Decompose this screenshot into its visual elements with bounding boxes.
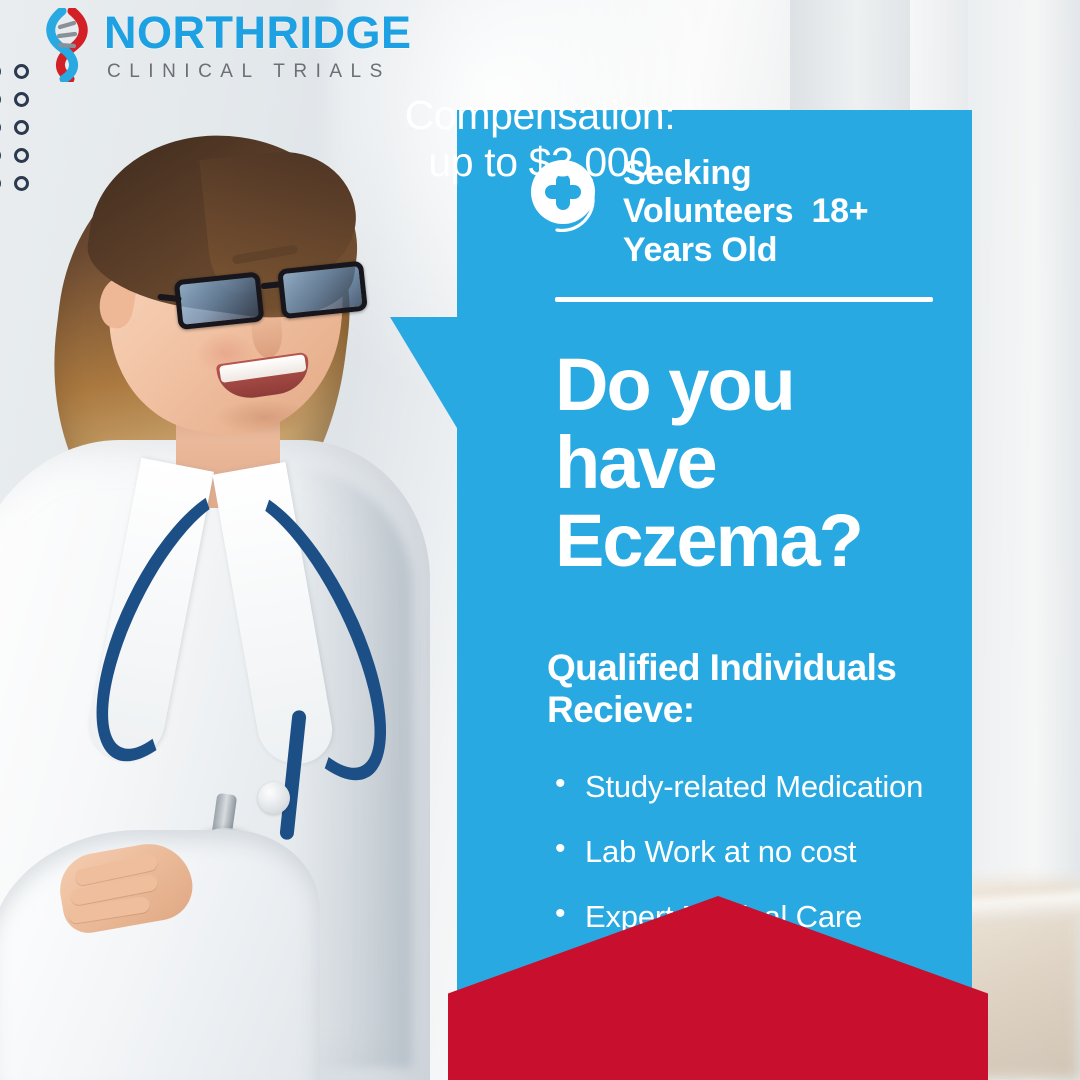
seeking-age: 18+	[812, 192, 869, 230]
compensation-amount: up to $3,000	[0, 139, 1080, 186]
doctor-photo	[0, 70, 470, 1080]
panel-pointer-tail	[390, 317, 460, 433]
benefits-subheading: Qualified Individuals Recieve:	[547, 647, 937, 731]
sunglasses-lens-left	[174, 271, 265, 330]
chin-shadow	[216, 400, 312, 434]
logo-tagline: CLINICAL TRIALS	[104, 62, 412, 81]
compensation-text: Compensation: up to $3,000	[0, 92, 1080, 185]
sunglasses-lens-right	[277, 261, 368, 320]
info-panel: Seeking Volunteers 18+ Years Old Do you …	[457, 110, 972, 1003]
logo-wordmark: NORTHRIDGE CLINICAL TRIALS	[104, 10, 412, 81]
dna-helix-icon	[42, 8, 92, 82]
brand-logo: NORTHRIDGE CLINICAL TRIALS	[42, 8, 412, 82]
decor-dot	[14, 64, 29, 79]
horizontal-rule	[555, 297, 933, 302]
list-item: Lab Work at no cost	[555, 833, 944, 870]
logo-name: NORTHRIDGE	[104, 10, 412, 55]
page-title: Do you have Eczema?	[555, 346, 944, 579]
decor-dot	[0, 64, 1, 79]
compensation-label: Compensation:	[0, 92, 1080, 139]
list-item: Study-related Medication	[555, 768, 944, 805]
poster-canvas: NORTHRIDGE CLINICAL TRIALS Seeking Volun…	[0, 0, 1080, 1080]
seeking-line-3: Years Old	[623, 231, 777, 269]
info-panel-content: Seeking Volunteers 18+ Years Old Do you …	[457, 110, 972, 963]
seeking-line-2: Volunteers	[623, 192, 793, 230]
lab-coat-button	[258, 782, 290, 814]
